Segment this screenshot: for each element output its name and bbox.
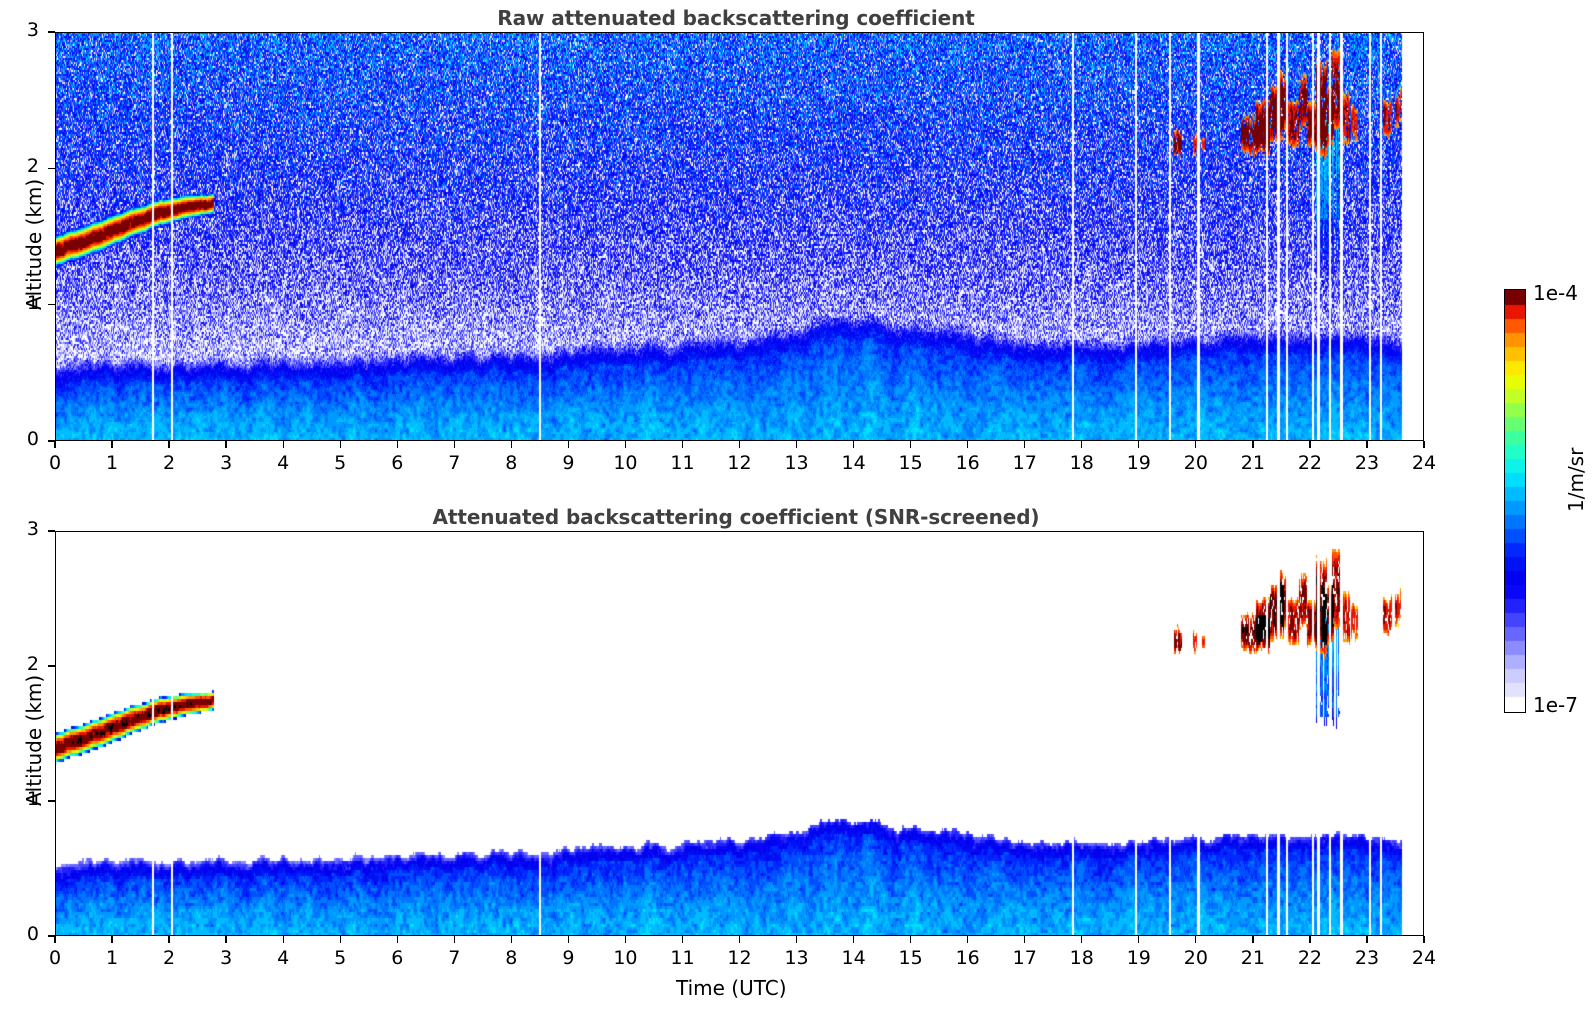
y-ticklabel-1-3: 3	[0, 518, 39, 540]
x-ticklabel-0-1: 1	[92, 452, 132, 474]
y-tick-1-0	[48, 935, 55, 936]
x-tick-1-13	[796, 936, 797, 943]
y-ticklabel-0-1: 1	[0, 292, 39, 314]
x-tick-1-21	[1252, 936, 1253, 943]
x-ticklabel-0-14: 14	[834, 452, 874, 474]
x-ticklabel-0-18: 18	[1062, 452, 1102, 474]
y-axis-label-raw: Altitude (km)	[22, 179, 46, 310]
x-ticklabel-1-3: 3	[206, 947, 246, 969]
y-axis-label-snr: Altitude (km)	[22, 675, 46, 806]
x-ticklabel-0-2: 2	[149, 452, 189, 474]
x-ticklabel-0-6: 6	[377, 452, 417, 474]
x-tick-1-23	[1366, 936, 1367, 943]
x-tick-0-10	[625, 441, 626, 448]
x-ticklabel-1-24: 24	[1404, 947, 1444, 969]
x-tick-1-24	[1423, 936, 1424, 943]
x-tick-1-12	[739, 936, 740, 943]
y-tick-1-3	[48, 530, 55, 531]
x-ticklabel-1-11: 11	[662, 947, 702, 969]
x-tick-1-14	[853, 936, 854, 943]
x-ticklabel-1-16: 16	[948, 947, 988, 969]
x-ticklabel-0-5: 5	[320, 452, 360, 474]
x-tick-0-19	[1138, 441, 1139, 448]
y-tick-1-1	[48, 800, 55, 801]
x-tick-1-3	[225, 936, 226, 943]
x-ticklabel-0-19: 19	[1119, 452, 1159, 474]
x-ticklabel-0-9: 9	[548, 452, 588, 474]
x-tick-0-14	[853, 441, 854, 448]
y-ticklabel-0-3: 3	[0, 19, 39, 41]
x-tick-1-0	[54, 936, 55, 943]
x-tick-1-7	[454, 936, 455, 943]
x-tick-1-6	[397, 936, 398, 943]
x-tick-0-5	[340, 441, 341, 448]
x-tick-0-2	[168, 441, 169, 448]
x-ticklabel-0-16: 16	[948, 452, 988, 474]
x-ticklabel-1-23: 23	[1347, 947, 1387, 969]
x-ticklabel-1-9: 9	[548, 947, 588, 969]
x-tick-0-7	[454, 441, 455, 448]
x-ticklabel-0-3: 3	[206, 452, 246, 474]
x-ticklabel-0-10: 10	[605, 452, 645, 474]
x-tick-0-15	[910, 441, 911, 448]
x-tick-0-0	[54, 441, 55, 448]
x-tick-1-22	[1309, 936, 1310, 943]
x-tick-1-2	[168, 936, 169, 943]
lidar-figure: Raw attenuated backscattering coefficien…	[0, 0, 1595, 1020]
x-tick-1-17	[1024, 936, 1025, 943]
x-ticklabel-1-7: 7	[434, 947, 474, 969]
x-tick-0-4	[283, 441, 284, 448]
y-ticklabel-1-0: 0	[0, 923, 39, 945]
x-ticklabel-1-17: 17	[1005, 947, 1045, 969]
x-ticklabel-1-6: 6	[377, 947, 417, 969]
x-tick-1-9	[568, 936, 569, 943]
y-tick-0-2	[48, 168, 55, 169]
x-tick-0-11	[682, 441, 683, 448]
heatmap-raw	[55, 32, 1424, 441]
x-ticklabel-0-0: 0	[35, 452, 75, 474]
x-tick-1-11	[682, 936, 683, 943]
y-ticklabel-1-1: 1	[0, 788, 39, 810]
panel-snr	[55, 531, 1424, 936]
x-tick-1-8	[511, 936, 512, 943]
x-ticklabel-0-7: 7	[434, 452, 474, 474]
panel-title-snr: Attenuated backscattering coefficient (S…	[46, 505, 1426, 529]
x-tick-0-1	[111, 441, 112, 448]
x-ticklabel-0-22: 22	[1290, 452, 1330, 474]
x-ticklabel-1-14: 14	[834, 947, 874, 969]
x-axis-label: Time (UTC)	[676, 976, 787, 1000]
x-tick-0-20	[1195, 441, 1196, 448]
x-tick-1-18	[1081, 936, 1082, 943]
x-ticklabel-1-20: 20	[1176, 947, 1216, 969]
x-ticklabel-1-12: 12	[720, 947, 760, 969]
x-ticklabel-1-8: 8	[491, 947, 531, 969]
x-tick-0-8	[511, 441, 512, 448]
x-ticklabel-1-19: 19	[1119, 947, 1159, 969]
x-ticklabel-0-8: 8	[491, 452, 531, 474]
x-tick-1-20	[1195, 936, 1196, 943]
x-ticklabel-1-2: 2	[149, 947, 189, 969]
x-tick-0-24	[1423, 441, 1424, 448]
x-ticklabel-1-22: 22	[1290, 947, 1330, 969]
x-tick-1-4	[283, 936, 284, 943]
x-tick-0-13	[796, 441, 797, 448]
colorbar	[1504, 289, 1526, 713]
y-ticklabel-1-2: 2	[0, 653, 39, 675]
x-tick-0-16	[967, 441, 968, 448]
y-tick-1-2	[48, 665, 55, 666]
x-tick-0-9	[568, 441, 569, 448]
x-tick-0-23	[1366, 441, 1367, 448]
x-ticklabel-0-12: 12	[720, 452, 760, 474]
x-tick-0-18	[1081, 441, 1082, 448]
x-ticklabel-0-4: 4	[263, 452, 303, 474]
y-tick-0-3	[48, 31, 55, 32]
x-tick-0-17	[1024, 441, 1025, 448]
x-tick-1-1	[111, 936, 112, 943]
x-ticklabel-0-21: 21	[1233, 452, 1273, 474]
x-ticklabel-1-13: 13	[777, 947, 817, 969]
colorbar-max-label: 1e-4	[1533, 281, 1578, 305]
x-tick-1-5	[340, 936, 341, 943]
x-ticklabel-1-18: 18	[1062, 947, 1102, 969]
x-tick-1-15	[910, 936, 911, 943]
y-ticklabel-0-0: 0	[0, 428, 39, 450]
x-tick-0-6	[397, 441, 398, 448]
x-tick-1-10	[625, 936, 626, 943]
x-ticklabel-1-15: 15	[891, 947, 931, 969]
y-tick-0-0	[48, 440, 55, 441]
heatmap-snr	[55, 531, 1424, 936]
x-ticklabel-0-11: 11	[662, 452, 702, 474]
panel-raw	[55, 32, 1424, 441]
x-ticklabel-0-13: 13	[777, 452, 817, 474]
x-ticklabel-1-0: 0	[35, 947, 75, 969]
x-tick-0-12	[739, 441, 740, 448]
y-tick-0-1	[48, 304, 55, 305]
x-tick-0-3	[225, 441, 226, 448]
x-ticklabel-0-20: 20	[1176, 452, 1216, 474]
x-tick-0-21	[1252, 441, 1253, 448]
x-ticklabel-0-23: 23	[1347, 452, 1387, 474]
x-ticklabel-1-1: 1	[92, 947, 132, 969]
x-tick-1-19	[1138, 936, 1139, 943]
x-ticklabel-1-10: 10	[605, 947, 645, 969]
x-ticklabel-0-17: 17	[1005, 452, 1045, 474]
panel-title-raw: Raw attenuated backscattering coefficien…	[46, 6, 1426, 30]
colorbar-min-label: 1e-7	[1533, 693, 1578, 717]
x-ticklabel-0-15: 15	[891, 452, 931, 474]
x-tick-1-16	[967, 936, 968, 943]
x-ticklabel-1-5: 5	[320, 947, 360, 969]
x-ticklabel-0-24: 24	[1404, 452, 1444, 474]
colorbar-unit-label: 1/m/sr	[1564, 448, 1588, 512]
x-ticklabel-1-21: 21	[1233, 947, 1273, 969]
x-ticklabel-1-4: 4	[263, 947, 303, 969]
y-ticklabel-0-2: 2	[0, 155, 39, 177]
x-tick-0-22	[1309, 441, 1310, 448]
